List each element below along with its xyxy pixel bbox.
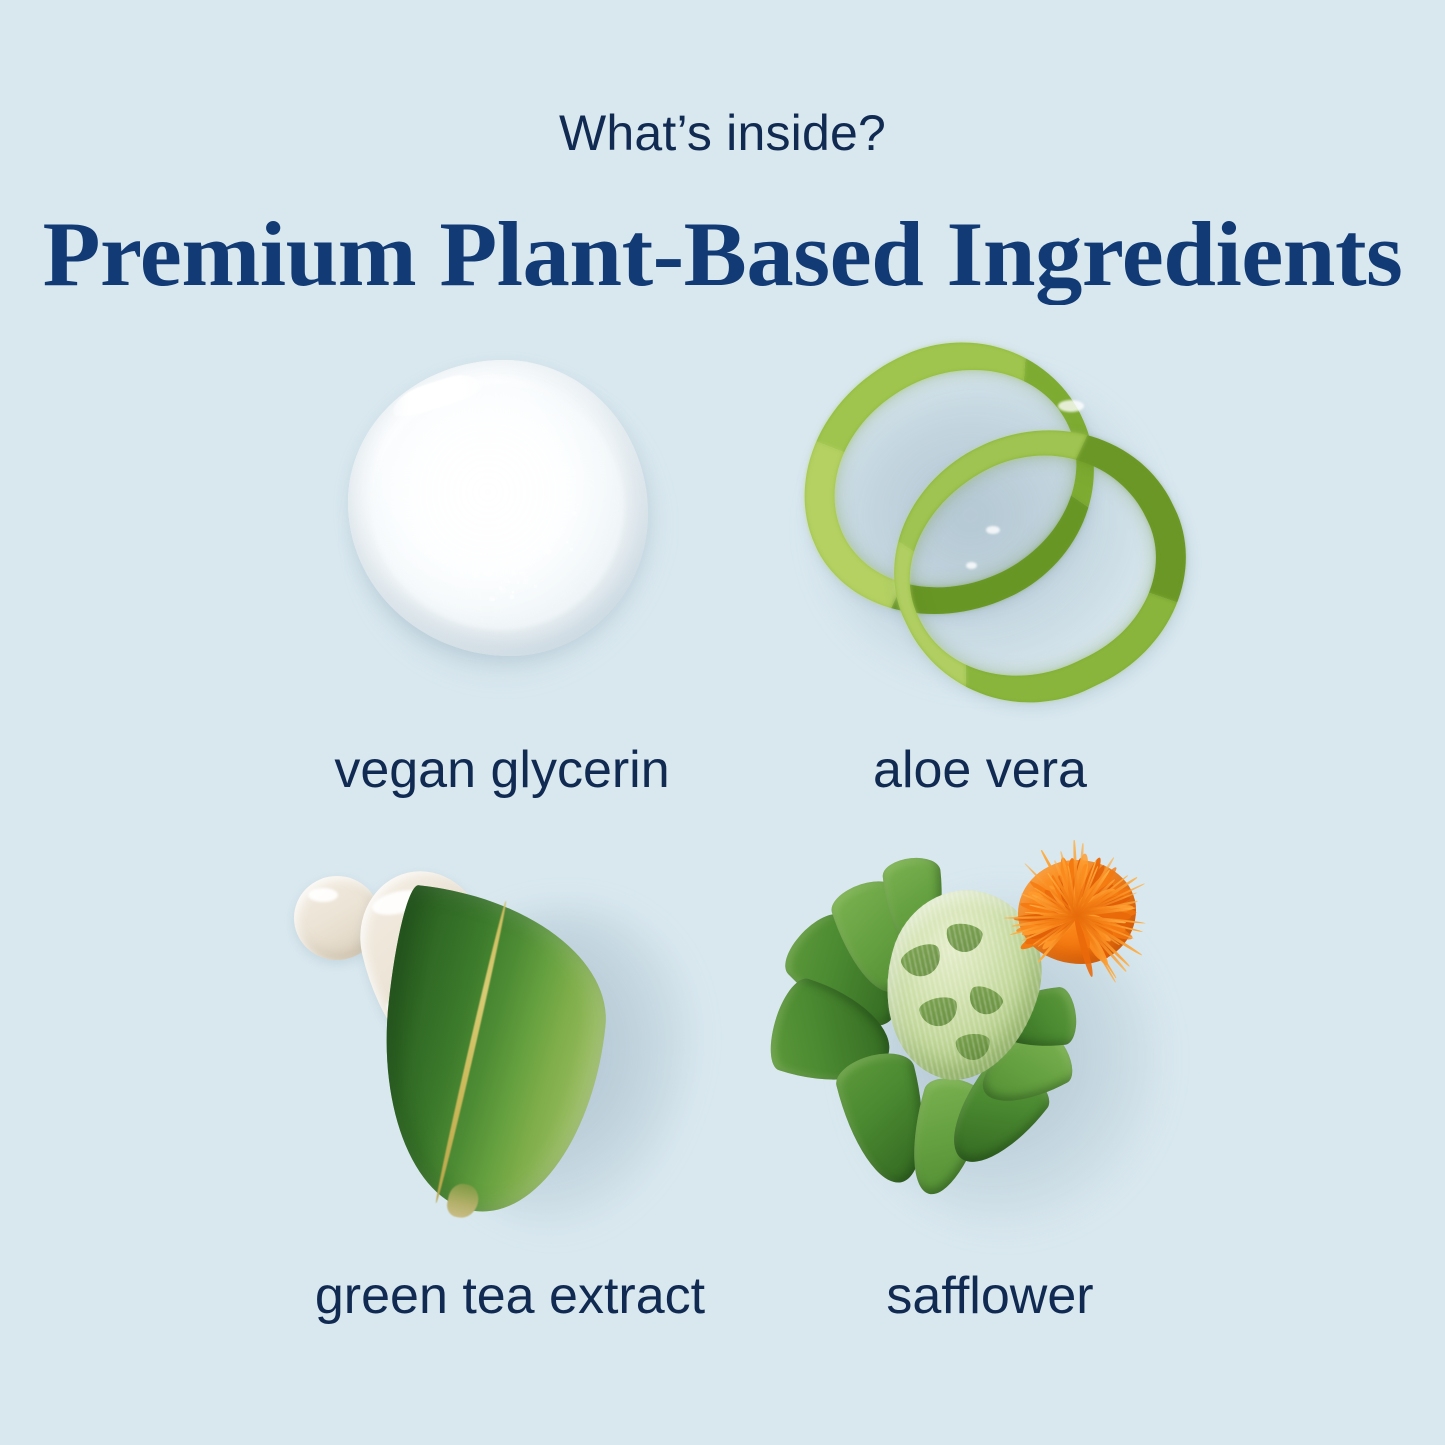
safflower-orange-floret (988, 834, 1164, 986)
aloe-gloss-2 (986, 526, 1000, 534)
ingredient-label-safflower: safflower (690, 1270, 1290, 1322)
ingredients-poster: What’s inside? Premium Plant-Based Ingre… (0, 0, 1445, 1445)
glycerin-bubbles (414, 434, 584, 604)
ingredient-card-aloe: aloe vera (700, 340, 1260, 812)
ingredient-label-aloe: aloe vera (700, 744, 1260, 796)
aloe-vera-peel-strips-photo (790, 340, 1180, 700)
green-tea-leaf-with-oil-drops-photo (272, 846, 742, 1256)
oil-droplet-small-gloss (308, 888, 338, 902)
glycerin-gel-droplet-photo (342, 358, 672, 688)
safflower-bud-photo (750, 828, 1220, 1258)
page-title: Premium Plant-Based Ingredients (0, 206, 1445, 303)
ingredient-card-safflower: safflower (690, 828, 1290, 1346)
eyebrow-text: What’s inside? (0, 108, 1445, 158)
ingredient-label-glycerin: vegan glycerin (232, 744, 772, 796)
aloe-gloss-1 (1058, 400, 1084, 412)
aloe-gloss-3 (966, 562, 977, 569)
ingredient-card-glycerin: vegan glycerin (232, 352, 772, 812)
